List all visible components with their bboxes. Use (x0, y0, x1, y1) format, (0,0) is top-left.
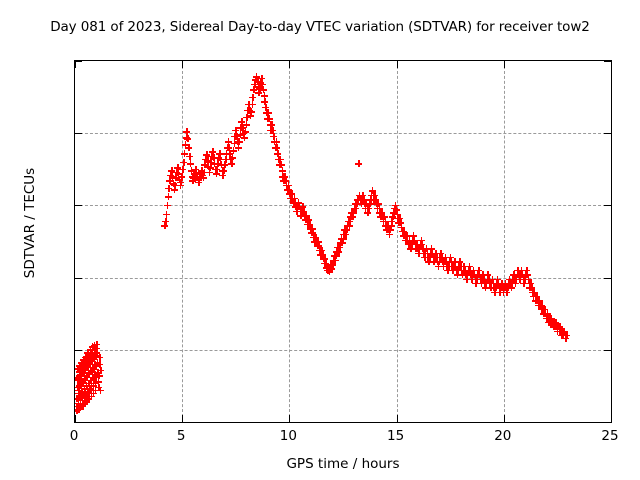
data-point-marker (187, 160, 194, 167)
data-point-marker (303, 212, 310, 219)
data-point-marker (311, 238, 318, 245)
x-axis-tick-mark (75, 415, 76, 422)
data-point-marker (486, 280, 493, 287)
data-point-marker (437, 250, 444, 257)
y-axis-tick-mark (604, 205, 611, 206)
data-point-marker (526, 280, 533, 287)
data-point-marker (358, 200, 365, 207)
data-point-marker (266, 115, 273, 122)
data-point-marker (358, 196, 365, 203)
data-point-marker (79, 380, 86, 387)
data-point-marker (86, 361, 93, 368)
data-point-marker (78, 364, 85, 371)
data-point-marker (461, 267, 468, 274)
data-point-marker (420, 250, 427, 257)
data-point-marker (250, 86, 257, 93)
data-point-marker (84, 374, 91, 381)
data-point-marker (373, 200, 380, 207)
data-point-marker (237, 124, 244, 131)
gridline-vertical (289, 61, 290, 422)
y-axis-tick-mark (75, 350, 82, 351)
data-point-marker (88, 380, 95, 387)
data-point-marker (544, 315, 551, 322)
data-point-marker (225, 144, 232, 151)
data-point-marker (193, 169, 200, 176)
data-point-marker (375, 200, 382, 207)
data-point-marker (399, 228, 406, 235)
y-axis-tick-mark (75, 205, 82, 206)
data-point-marker (526, 284, 533, 291)
data-point-marker (451, 258, 458, 265)
data-point-marker (546, 315, 553, 322)
data-point-marker (88, 393, 95, 400)
data-point-marker (407, 245, 414, 252)
data-point-marker (359, 192, 366, 199)
data-point-marker (481, 280, 488, 287)
data-point-marker (297, 212, 304, 219)
data-point-marker (327, 265, 334, 272)
data-point-marker (434, 258, 441, 265)
data-point-marker (235, 144, 242, 151)
data-point-marker (394, 215, 401, 222)
data-point-marker (457, 263, 464, 270)
data-point-marker (319, 251, 326, 258)
data-point-marker (422, 250, 429, 257)
data-point-marker (262, 104, 269, 111)
data-point-marker (532, 293, 539, 300)
data-point-marker (299, 203, 306, 210)
data-point-marker (89, 374, 96, 381)
data-point-marker (78, 378, 85, 385)
data-point-marker (208, 153, 215, 160)
data-point-marker (538, 306, 545, 313)
data-point-marker (186, 153, 193, 160)
data-point-marker (85, 388, 92, 395)
data-point-marker (315, 238, 322, 245)
data-point-marker (261, 92, 268, 99)
data-point-marker (348, 209, 355, 216)
data-point-marker (561, 328, 568, 335)
data-point-marker (86, 382, 93, 389)
data-point-marker (559, 328, 566, 335)
data-point-marker (90, 377, 97, 384)
data-point-marker (234, 138, 241, 145)
data-point-marker (447, 254, 454, 261)
data-point-marker (463, 276, 470, 283)
data-point-marker (215, 154, 222, 161)
data-point-marker (562, 335, 569, 342)
data-point-marker (470, 267, 477, 274)
data-point-marker (308, 229, 315, 236)
data-point-marker (277, 156, 284, 163)
data-point-marker (83, 382, 90, 389)
data-point-marker (398, 224, 405, 231)
data-point-marker (521, 276, 528, 283)
data-point-marker (428, 245, 435, 252)
data-point-marker (81, 375, 88, 382)
data-point-marker (287, 195, 294, 202)
data-point-marker (516, 276, 523, 283)
data-point-marker (245, 101, 252, 108)
data-point-marker (533, 293, 540, 300)
data-point-marker (336, 244, 343, 251)
data-point-marker (92, 380, 99, 387)
data-point-marker (388, 218, 395, 225)
data-point-marker (80, 369, 87, 376)
data-point-marker (507, 280, 514, 287)
data-point-marker (296, 203, 303, 210)
data-point-marker (423, 245, 430, 252)
data-point-marker (414, 245, 421, 252)
data-point-marker (400, 232, 407, 239)
data-point-marker (424, 250, 431, 257)
data-point-marker (255, 89, 262, 96)
data-point-marker (384, 222, 391, 229)
data-point-marker (86, 352, 93, 359)
x-axis-tick-mark (289, 61, 290, 68)
data-point-marker (75, 403, 80, 410)
data-point-marker (222, 156, 229, 163)
x-axis-tick-label: 0 (70, 430, 79, 444)
data-point-marker (443, 263, 450, 270)
data-point-marker (410, 232, 417, 239)
data-point-marker (248, 108, 255, 115)
data-point-marker (506, 276, 513, 283)
data-point-marker (317, 251, 324, 258)
data-point-marker (445, 263, 452, 270)
data-point-marker (165, 193, 172, 200)
data-point-marker (552, 319, 559, 326)
data-point-marker (555, 323, 562, 330)
data-point-marker (75, 406, 82, 413)
data-point-marker (294, 203, 301, 210)
data-point-marker (95, 378, 102, 385)
x-axis-tick-mark (611, 61, 612, 68)
data-point-marker (199, 172, 206, 179)
data-point-marker (490, 280, 497, 287)
data-point-marker (355, 160, 362, 167)
data-point-marker (83, 398, 90, 405)
data-point-marker (216, 150, 223, 157)
data-point-marker (76, 368, 83, 375)
data-point-marker (505, 280, 512, 287)
x-axis-tick-mark (182, 61, 183, 68)
data-point-marker (91, 361, 98, 368)
data-point-marker (273, 138, 280, 145)
y-axis-tick-mark (75, 61, 82, 62)
data-point-marker (83, 372, 90, 379)
data-point-marker (335, 248, 342, 255)
data-point-marker (313, 238, 320, 245)
data-point-marker (236, 138, 243, 145)
data-point-marker (371, 192, 378, 199)
data-point-marker (81, 400, 88, 407)
data-point-marker (547, 319, 554, 326)
data-point-marker (92, 374, 99, 381)
data-point-marker (231, 140, 238, 147)
data-point-marker (180, 159, 187, 166)
data-point-marker (379, 213, 386, 220)
data-point-marker (397, 219, 404, 226)
data-point-marker (171, 186, 178, 193)
x-axis-tick-mark (289, 415, 290, 422)
gridline-vertical (397, 61, 398, 422)
data-point-marker (438, 254, 445, 261)
data-point-marker (377, 213, 384, 220)
plot-area (74, 60, 612, 423)
data-point-marker (532, 297, 539, 304)
data-point-marker (263, 109, 270, 116)
data-point-marker (96, 372, 103, 379)
data-point-marker (325, 264, 332, 271)
data-point-marker (466, 267, 473, 274)
data-point-marker (412, 245, 419, 252)
data-point-marker (82, 362, 89, 369)
data-point-marker (92, 387, 99, 394)
data-point-marker (383, 226, 390, 233)
data-point-marker (357, 196, 364, 203)
data-point-marker (84, 355, 91, 362)
data-point-marker (376, 209, 383, 216)
data-point-marker (324, 267, 331, 274)
data-point-marker (472, 276, 479, 283)
data-point-marker (312, 234, 319, 241)
data-point-marker (194, 173, 201, 180)
data-point-marker (333, 248, 340, 255)
data-point-marker (93, 352, 100, 359)
data-point-marker (361, 200, 368, 207)
data-point-marker (220, 167, 227, 174)
data-point-marker (436, 254, 443, 261)
data-point-marker (306, 221, 313, 228)
data-point-marker (90, 355, 97, 362)
data-point-marker (92, 362, 99, 369)
data-point-marker (418, 241, 425, 248)
data-point-marker (230, 147, 237, 154)
x-axis-tick-mark (504, 415, 505, 422)
data-point-marker (364, 209, 371, 216)
data-point-marker (333, 252, 340, 259)
data-point-marker (89, 364, 96, 371)
data-point-marker (368, 192, 375, 199)
data-point-marker (545, 319, 552, 326)
data-point-marker (196, 174, 203, 181)
data-point-marker (540, 310, 547, 317)
data-point-marker (79, 391, 86, 398)
data-point-marker (318, 247, 325, 254)
data-point-marker (214, 160, 221, 167)
data-point-marker (493, 280, 500, 287)
data-point-marker (78, 371, 85, 378)
data-point-marker (83, 391, 90, 398)
data-point-marker (433, 254, 440, 261)
data-point-marker (172, 174, 179, 181)
data-point-marker (260, 86, 267, 93)
data-point-marker (204, 157, 211, 164)
data-point-marker (244, 107, 251, 114)
data-point-marker (82, 358, 89, 365)
data-point-marker (213, 166, 220, 173)
data-point-marker (310, 234, 317, 241)
data-point-marker (534, 297, 541, 304)
data-point-marker (75, 374, 81, 381)
data-point-marker (520, 276, 527, 283)
data-point-marker (530, 293, 537, 300)
data-point-marker (417, 241, 424, 248)
data-point-marker (389, 213, 396, 220)
data-point-marker (356, 192, 363, 199)
data-point-marker (229, 154, 236, 161)
data-point-marker (84, 364, 91, 371)
x-axis-tick-mark (75, 61, 76, 68)
y-axis-tick-mark (75, 422, 82, 423)
data-point-marker (488, 280, 495, 287)
data-point-marker (372, 196, 379, 203)
data-point-marker (448, 263, 455, 270)
data-point-marker (538, 302, 545, 309)
data-point-marker (424, 254, 431, 261)
data-point-marker (369, 187, 376, 194)
data-point-marker (309, 225, 316, 232)
data-point-marker (85, 359, 92, 366)
x-axis-tick-label: 25 (601, 430, 618, 444)
gridline-horizontal (75, 133, 611, 134)
data-point-marker (188, 167, 195, 174)
data-point-marker (281, 173, 288, 180)
y-axis-tick-mark (604, 278, 611, 279)
data-point-marker (183, 134, 190, 141)
data-point-marker (201, 161, 208, 168)
data-point-marker (511, 276, 518, 283)
data-point-marker (280, 177, 287, 184)
data-point-marker (408, 241, 415, 248)
data-point-marker (76, 362, 83, 369)
data-point-marker (224, 144, 231, 151)
data-point-marker (87, 385, 94, 392)
data-point-marker (539, 306, 546, 313)
data-point-marker (404, 237, 411, 244)
data-point-marker (88, 368, 95, 375)
data-point-marker (276, 161, 283, 168)
data-point-marker (478, 276, 485, 283)
data-point-marker (346, 218, 353, 225)
data-point-marker (249, 94, 256, 101)
data-point-marker (446, 258, 453, 265)
data-point-marker (556, 323, 563, 330)
data-point-marker (261, 98, 268, 105)
data-point-marker (450, 263, 457, 270)
data-point-marker (228, 160, 235, 167)
data-point-marker (212, 166, 219, 173)
x-axis-tick-mark (504, 61, 505, 68)
y-axis-tick-mark (604, 61, 611, 62)
data-point-marker (413, 241, 420, 248)
data-point-marker (385, 226, 392, 233)
data-point-marker (452, 263, 459, 270)
data-point-marker (89, 354, 96, 361)
data-point-marker (96, 361, 103, 368)
data-point-marker (75, 387, 82, 394)
data-point-marker (203, 151, 210, 158)
data-point-marker (528, 284, 535, 291)
data-point-marker (487, 284, 494, 291)
data-point-marker (91, 371, 98, 378)
data-point-marker (76, 372, 83, 379)
data-point-marker (207, 164, 214, 171)
data-point-marker (255, 83, 262, 90)
data-point-marker (241, 134, 248, 141)
data-point-marker (166, 177, 173, 184)
data-point-marker (253, 73, 260, 80)
data-point-marker (322, 260, 329, 267)
data-point-marker (85, 395, 92, 402)
x-axis-tick-label: 15 (387, 430, 404, 444)
data-point-marker (314, 242, 321, 249)
data-point-marker (169, 173, 176, 180)
data-point-marker (320, 255, 327, 262)
data-point-marker (353, 200, 360, 207)
data-point-marker (75, 384, 81, 391)
data-point-marker (173, 169, 180, 176)
data-point-marker (363, 200, 370, 207)
data-point-marker (484, 276, 491, 283)
data-point-marker (79, 397, 86, 404)
data-point-marker (256, 85, 263, 92)
data-point-marker (329, 261, 336, 268)
data-point-marker (523, 267, 530, 274)
data-point-marker (525, 276, 532, 283)
data-point-marker (426, 254, 433, 261)
data-point-marker (307, 225, 314, 232)
data-point-marker (268, 121, 275, 128)
data-point-marker (271, 138, 278, 145)
data-point-marker (219, 172, 226, 179)
data-point-marker (458, 267, 465, 274)
data-point-marker (258, 75, 265, 82)
data-point-marker (259, 81, 266, 88)
data-point-marker (301, 212, 308, 219)
data-point-marker (490, 284, 497, 291)
data-point-marker (279, 167, 286, 174)
data-point-marker (217, 156, 224, 163)
data-point-marker (430, 258, 437, 265)
data-point-marker (192, 166, 199, 173)
data-point-marker (508, 280, 515, 287)
data-point-marker (387, 226, 394, 233)
data-point-marker (323, 264, 330, 271)
data-point-marker (84, 385, 91, 392)
data-point-marker (95, 384, 102, 391)
data-point-marker (87, 367, 94, 374)
data-point-marker (354, 196, 361, 203)
data-point-marker (210, 154, 217, 161)
data-point-marker (321, 260, 328, 267)
data-point-marker (512, 280, 519, 287)
data-point-marker (472, 280, 479, 287)
data-point-marker (85, 380, 92, 387)
data-point-marker (97, 367, 104, 374)
page-title: Day 081 of 2023, Sidereal Day-to-day VTE… (0, 19, 640, 35)
data-point-marker (560, 332, 567, 339)
data-point-marker (195, 179, 202, 186)
y-axis-title: SDTVAR / TECUs (22, 113, 38, 333)
data-point-marker (509, 276, 516, 283)
data-point-marker (80, 361, 87, 368)
y-axis-tick-mark (75, 278, 82, 279)
data-point-marker (293, 208, 300, 215)
data-point-marker (345, 218, 352, 225)
data-point-marker (302, 216, 309, 223)
